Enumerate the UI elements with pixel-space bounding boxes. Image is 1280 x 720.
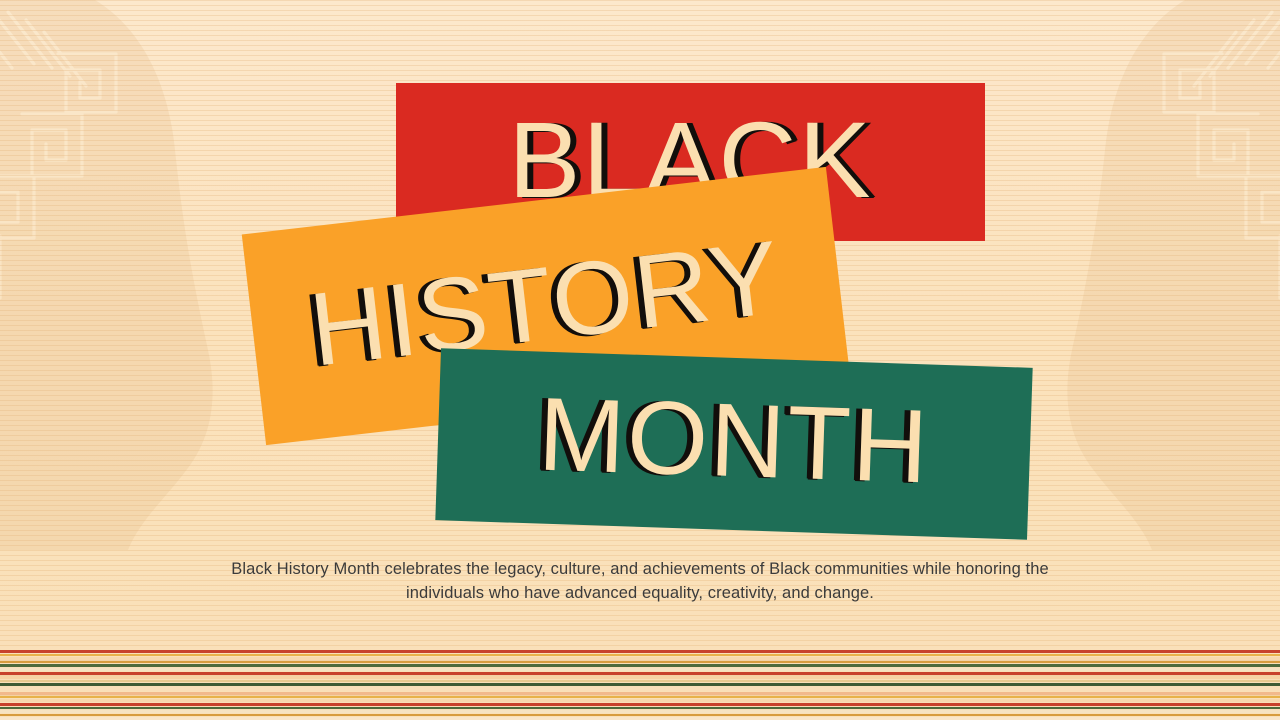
bottom-stripe [0, 668, 1280, 671]
bottom-stripe-decoration [0, 648, 1280, 720]
bottom-stripe [0, 680, 1280, 682]
bottom-stripe [0, 676, 1280, 679]
bottom-stripe [0, 692, 1280, 695]
bottom-stripe [0, 714, 1280, 716]
bottom-stripe [0, 699, 1280, 702]
title-banner-month: MONTH [435, 348, 1032, 540]
bottom-stripe [0, 687, 1280, 691]
bottom-stripe [0, 703, 1280, 706]
bottom-stripe [0, 707, 1280, 709]
bottom-stripe [0, 664, 1280, 667]
bottom-stripe [0, 683, 1280, 686]
bottom-stripe [0, 672, 1280, 675]
subtitle-text: Black History Month celebrates the legac… [200, 558, 1080, 606]
bottom-stripe [0, 657, 1280, 660]
bottom-stripe [0, 661, 1280, 663]
title-word-month: MONTH [537, 383, 931, 500]
bottom-stripe [0, 696, 1280, 698]
bottom-stripe [0, 650, 1280, 653]
slide-canvas: BLACK HISTORY MONTH Black History Month … [0, 0, 1280, 720]
bottom-stripe [0, 710, 1280, 713]
bottom-stripe [0, 654, 1280, 656]
